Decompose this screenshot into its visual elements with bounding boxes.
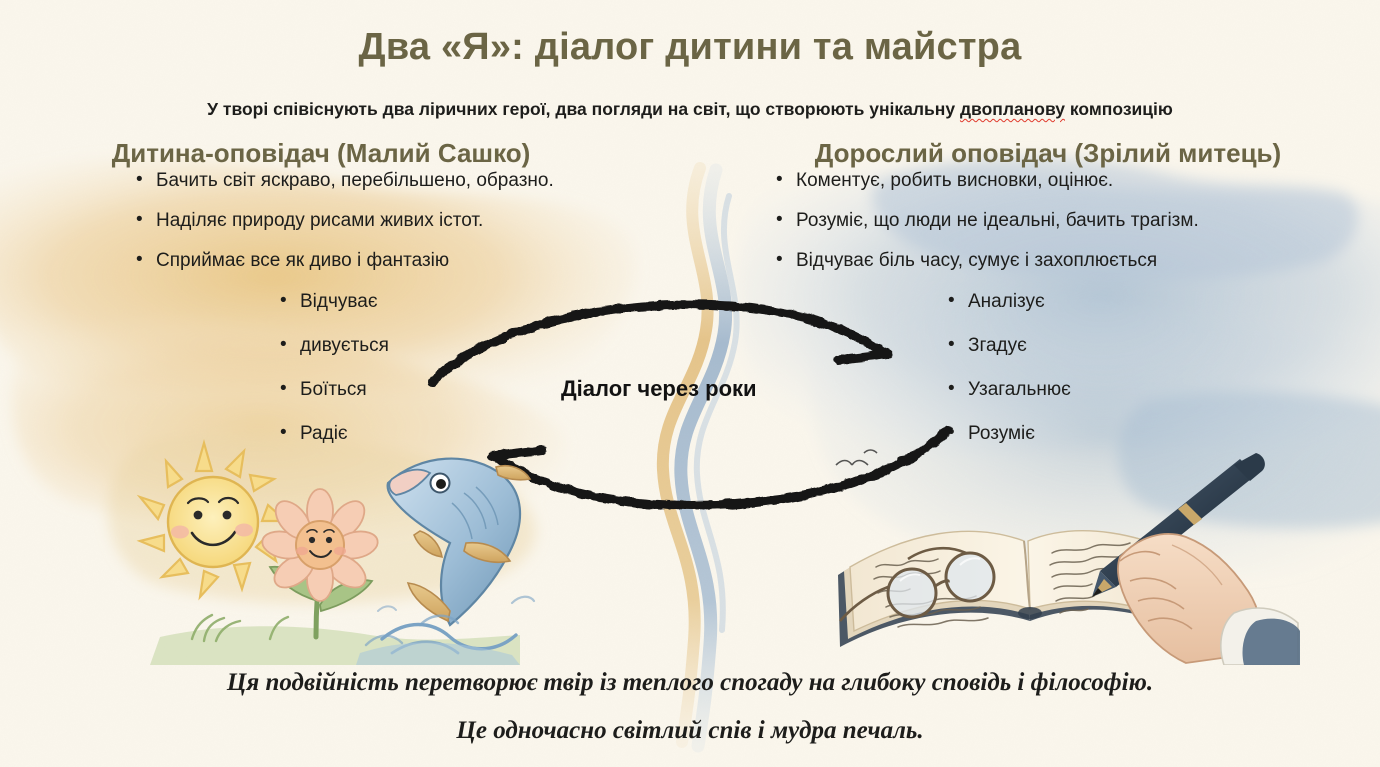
right-column-sub-bullet-list: Аналізує Згадує Узагальнює Розуміє (944, 290, 1340, 446)
list-item: Сприймає все як диво і фантазію (132, 249, 660, 272)
child-world-illustration (120, 425, 560, 665)
left-column-heading: Дитина-оповідач (Малий Сашко) (60, 138, 660, 169)
footer-line-2: Це одночасно світлий спів і мудра печаль… (0, 716, 1380, 746)
footer-line-1: Ця подвійність перетворює твір із теплог… (0, 668, 1380, 698)
list-item: Відчуває біль часу, сумує і захоплюється (772, 249, 1340, 272)
list-item: Розуміє, що люди не ідеальні, бачить тра… (772, 209, 1340, 232)
bird-marks (836, 450, 877, 465)
arrow-right-icon (432, 305, 888, 382)
subtitle-misspelled-word: двопланову (960, 99, 1065, 119)
list-item: Згадує (944, 334, 1340, 357)
sun-icon (140, 443, 286, 597)
footer-summary: Ця подвійність перетворює твір із теплог… (0, 668, 1380, 746)
list-item: Узагальнює (944, 378, 1340, 401)
list-item: Наділяє природу рисами живих істот. (132, 209, 660, 232)
subtitle-part-2: композицію (1065, 99, 1173, 119)
subtitle-part-1: У творі співіснують два ліричних герої, … (207, 99, 960, 119)
list-item: Бачить світ яскраво, перебільшено, образ… (132, 169, 660, 192)
adult-journal-illustration (820, 425, 1300, 665)
dialog-label: Діалог через роки (561, 376, 757, 402)
right-column-bullet-list: Коментує, робить висновки, оцінює. Розум… (772, 169, 1340, 273)
writing-hand (1118, 534, 1300, 665)
right-column-heading: Дорослий оповідач (Зрілий митець) (740, 138, 1340, 169)
flower-icon (260, 489, 380, 637)
list-item: Аналізує (944, 290, 1340, 313)
fish-icon (388, 459, 530, 625)
slide-canvas: Два «Я»: діалог дитини та майстра У твор… (0, 0, 1380, 767)
left-column-bullet-list: Бачить світ яскраво, перебільшено, образ… (132, 169, 660, 273)
list-item: Коментує, робить висновки, оцінює. (772, 169, 1340, 192)
page-title: Два «Я»: діалог дитини та майстра (0, 26, 1380, 69)
page-subtitle: У творі співіснують два ліричних герої, … (0, 99, 1380, 120)
